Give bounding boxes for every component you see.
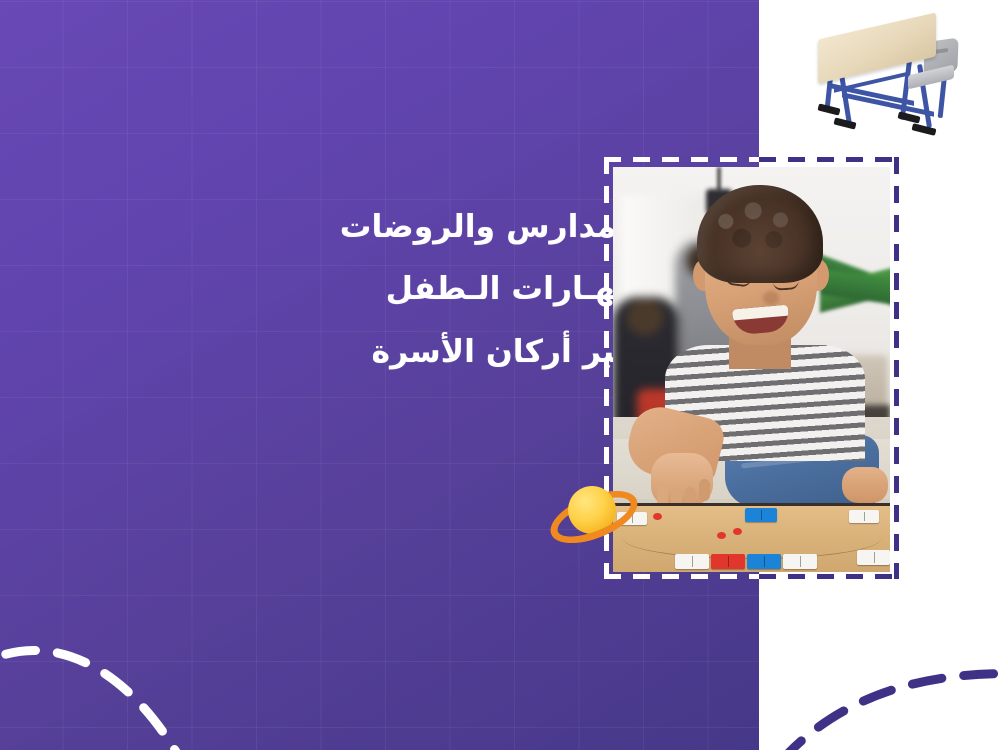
photo-boy-nose <box>763 291 779 305</box>
frame-dash-top-right <box>759 157 899 162</box>
photo-game-chip <box>717 532 726 539</box>
dashed-arc-bottom-right-icon <box>770 612 1000 750</box>
photo-board-curve <box>623 518 881 559</box>
photo-boy-finger <box>699 479 710 501</box>
frame-dash-top-left <box>604 157 759 162</box>
photo-domino-tile <box>849 510 879 523</box>
saturn-planet-icon <box>548 474 626 548</box>
frame-dash-right <box>894 157 899 579</box>
frame-dash-bottom-right <box>759 574 899 579</box>
photo-domino-tile <box>745 508 777 522</box>
photo-lamp-stem <box>717 167 721 191</box>
photo-game-chip <box>653 513 662 520</box>
photo-game-chip <box>733 528 742 535</box>
child-playing-dominoes-photo <box>613 167 890 572</box>
photo-domino-tile <box>857 550 890 565</box>
photo-domino-tile <box>747 554 781 569</box>
desk-foot <box>817 103 840 115</box>
desk-foot <box>833 117 856 129</box>
photo-frame <box>604 157 899 579</box>
photo-domino-tile <box>711 554 745 569</box>
photo-boy-right-hand <box>842 467 888 503</box>
photo-domino-tile <box>783 554 817 569</box>
photo-domino-tile <box>675 554 709 569</box>
desk-foot <box>912 123 937 136</box>
photo-boy-hair-texture <box>703 191 817 267</box>
poster-canvas: دور تجهيز المدارس والروضات في دعــم مـهـ… <box>0 0 1000 750</box>
photo-domino-board <box>613 503 890 572</box>
school-desk-icon <box>812 6 974 140</box>
frame-dash-bottom-left <box>604 574 759 579</box>
